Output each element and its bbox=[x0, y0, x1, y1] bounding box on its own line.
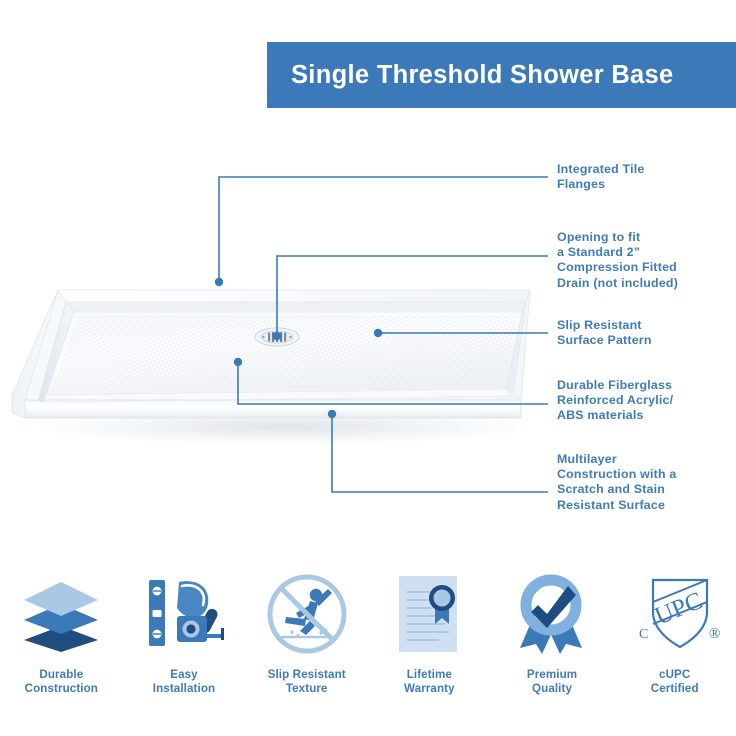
tile-flange-back bbox=[58, 290, 530, 302]
title-banner: Single Threshold Shower Base bbox=[267, 42, 736, 108]
upc-shield-icon: UPC C ® bbox=[629, 568, 721, 660]
feature-durable-construction: Durable Construction bbox=[0, 568, 123, 697]
no-slip-prohibition-icon bbox=[266, 568, 348, 660]
shower-base-drawing bbox=[0, 255, 560, 455]
feature-cupc-certified: UPC C ® cUPC Certified bbox=[613, 568, 736, 697]
slip-resistant-texture-pattern bbox=[52, 315, 518, 391]
page-title: Single Threshold Shower Base bbox=[267, 61, 673, 90]
product-infographic: Single Threshold Shower Base bbox=[0, 0, 736, 736]
callout-label-drain-opening: Opening to fit a Standard 2” Compression… bbox=[557, 230, 736, 291]
callout-label-integrated-tile-flanges: Integrated Tile Flanges bbox=[557, 162, 736, 192]
base-front-face bbox=[25, 400, 521, 418]
upc-shield-c-mark: C bbox=[639, 627, 648, 642]
document-award-ribbon-icon bbox=[391, 568, 467, 660]
feature-lifetime-warranty: Lifetime Warranty bbox=[368, 568, 491, 697]
callout-label-slip-resistant-surface-pattern: Slip Resistant Surface Pattern bbox=[557, 318, 736, 348]
feature-label-durable-construction: Durable Construction bbox=[25, 668, 98, 697]
callout-label-multilayer-construction: Multilayer Construction with a Scratch a… bbox=[557, 452, 736, 513]
level-trowel-tape-icon bbox=[141, 568, 227, 660]
feature-label-slip-resistant-texture: Slip Resistant Texture bbox=[268, 668, 346, 697]
feature-easy-installation: Easy Installation bbox=[123, 568, 246, 697]
layers-stack-icon bbox=[18, 568, 104, 660]
upc-shield-registered-mark: ® bbox=[709, 626, 720, 642]
feature-label-lifetime-warranty: Lifetime Warranty bbox=[404, 668, 455, 697]
ribbon-checkmark-icon bbox=[512, 568, 592, 660]
feature-label-cupc-certified: cUPC Certified bbox=[651, 668, 699, 697]
feature-label-premium-quality: Premium Quality bbox=[527, 668, 577, 697]
drain-grate bbox=[255, 328, 299, 346]
upc-shield-text: UPC bbox=[651, 587, 706, 630]
flange-inner-wall-back bbox=[66, 302, 526, 312]
product-illustration bbox=[0, 255, 560, 455]
feature-slip-resistant-texture: Slip Resistant Texture bbox=[245, 568, 368, 697]
callout-label-durable-fiberglass-materials: Durable Fiberglass Reinforced Acrylic/ A… bbox=[557, 378, 736, 424]
feature-highlights-row: Durable Construction bbox=[0, 568, 736, 718]
feature-premium-quality: Premium Quality bbox=[491, 568, 614, 697]
feature-label-easy-installation: Easy Installation bbox=[153, 668, 215, 697]
